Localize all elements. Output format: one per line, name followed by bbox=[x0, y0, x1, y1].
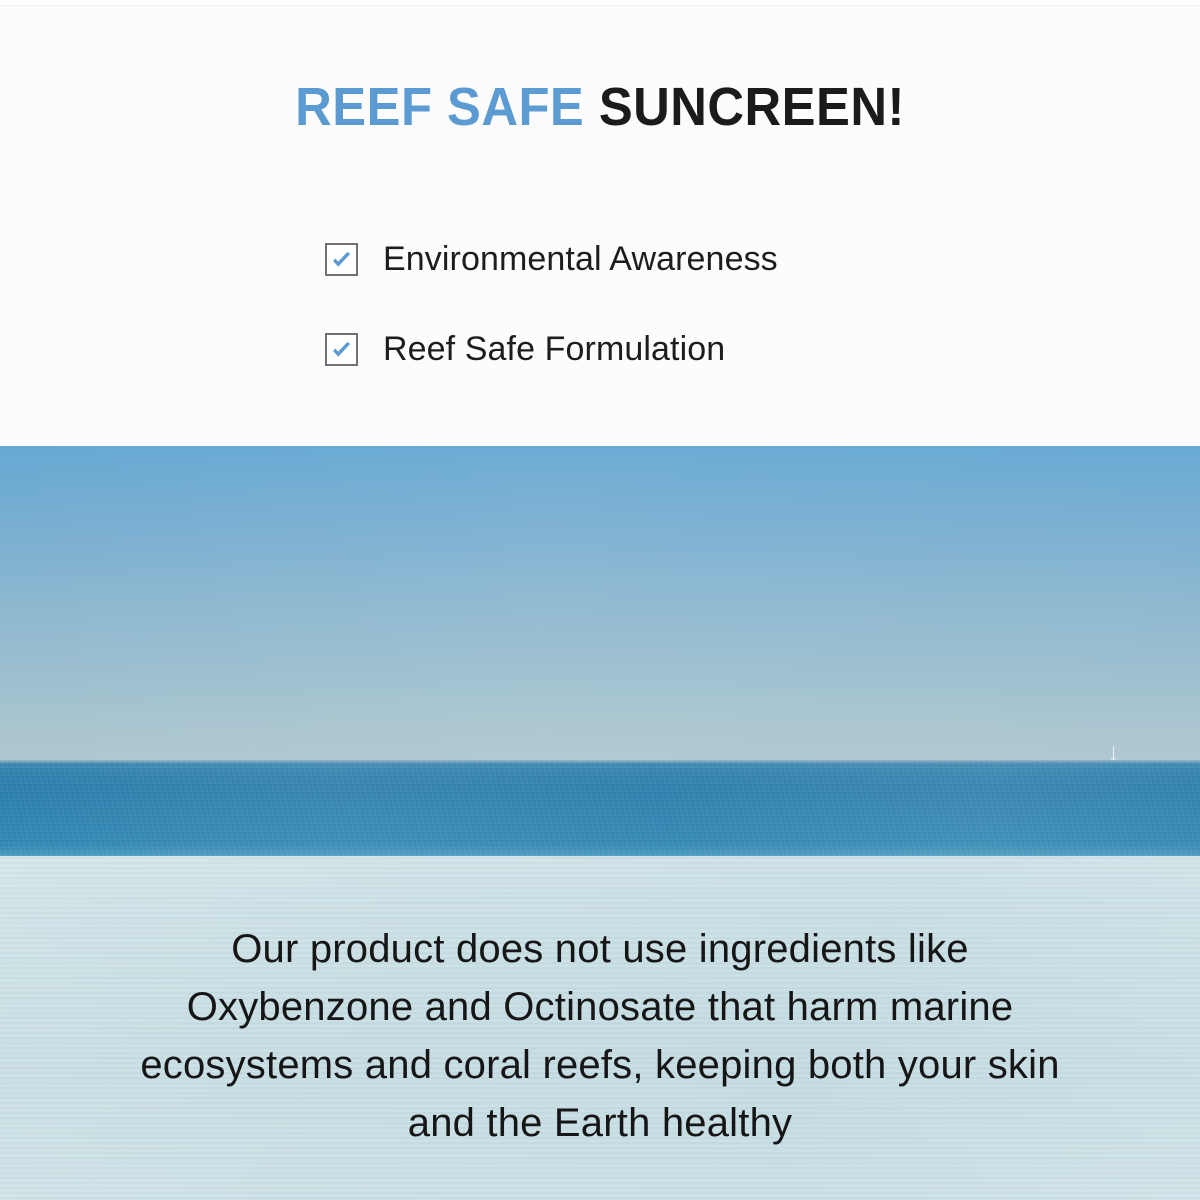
feature-checklist: Environmental Awareness Reef Safe Formul… bbox=[0, 214, 1200, 394]
list-item[interactable]: Reef Safe Formulation bbox=[0, 304, 1200, 394]
description-line-3: ecosystems and coral reefs, keeping both… bbox=[0, 1036, 1200, 1094]
description-line-2: Oxybenzone and Octinosate that harm mari… bbox=[0, 978, 1200, 1036]
ocean-horizon-photo bbox=[0, 446, 1200, 856]
checkbox-checked-icon[interactable] bbox=[325, 243, 358, 276]
sea-surface bbox=[0, 763, 1200, 856]
description-line-1: Our product does not use ingredients lik… bbox=[0, 920, 1200, 978]
description-text: Our product does not use ingredients lik… bbox=[0, 920, 1200, 1152]
page-title: REEF SAFE SUNCREEN! bbox=[36, 79, 1164, 136]
top-divider bbox=[0, 5, 1200, 6]
header-panel: REEF SAFE SUNCREEN! Environmental Awaren… bbox=[0, 0, 1200, 446]
page-title-highlight: REEF SAFE bbox=[295, 77, 584, 137]
page-title-rest-text: SUNCREEN! bbox=[599, 77, 905, 137]
sea-shimmer-overlay bbox=[0, 763, 1200, 856]
description-panel: Our product does not use ingredients lik… bbox=[0, 856, 1200, 1200]
sailboat-hull bbox=[1111, 758, 1116, 760]
reef-safe-suncreen-infographic: REEF SAFE SUNCREEN! Environmental Awaren… bbox=[0, 0, 1200, 1200]
list-item-label: Environmental Awareness bbox=[383, 240, 778, 279]
list-item-label: Reef Safe Formulation bbox=[383, 330, 725, 369]
description-line-4: and the Earth healthy bbox=[0, 1094, 1200, 1152]
sky-haze-overlay bbox=[0, 446, 1200, 763]
page-title-rest bbox=[584, 77, 599, 137]
distant-sailboat-icon bbox=[1111, 746, 1116, 763]
checkbox-checked-icon[interactable] bbox=[325, 333, 358, 366]
list-item[interactable]: Environmental Awareness bbox=[0, 214, 1200, 304]
